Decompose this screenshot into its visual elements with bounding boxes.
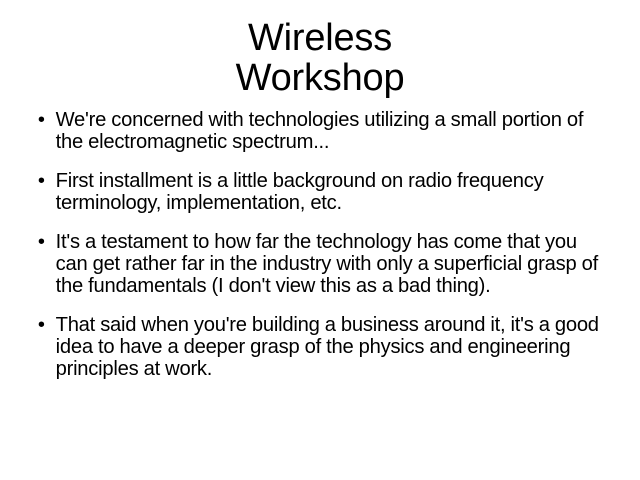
- slide-title-line-2: Workshop: [0, 58, 640, 98]
- bullet-item-text: We're concerned with technologies utiliz…: [56, 109, 608, 153]
- presentation-slide: Wireless Workshop • We're concerned with…: [0, 0, 640, 480]
- bullet-list: • We're concerned with technologies util…: [30, 109, 616, 380]
- bullet-item: • It's a testament to how far the techno…: [30, 231, 607, 297]
- bullet-item-text: First installment is a little background…: [56, 170, 608, 214]
- bullet-item: • That said when you're building a busin…: [30, 314, 607, 380]
- bullet-point-icon: •: [38, 231, 48, 253]
- bullet-point-icon: •: [38, 109, 48, 131]
- bullet-item-text: That said when you're building a busines…: [56, 314, 608, 380]
- slide-body: • We're concerned with technologies util…: [30, 109, 616, 380]
- slide-title: Wireless Workshop: [0, 18, 640, 98]
- bullet-point-icon: •: [38, 314, 48, 336]
- bullet-item: • First installment is a little backgrou…: [30, 170, 607, 214]
- bullet-item: • We're concerned with technologies util…: [30, 109, 607, 153]
- slide-title-line-1: Wireless: [0, 18, 640, 58]
- bullet-item-text: It's a testament to how far the technolo…: [56, 231, 608, 297]
- bullet-point-icon: •: [38, 170, 48, 192]
